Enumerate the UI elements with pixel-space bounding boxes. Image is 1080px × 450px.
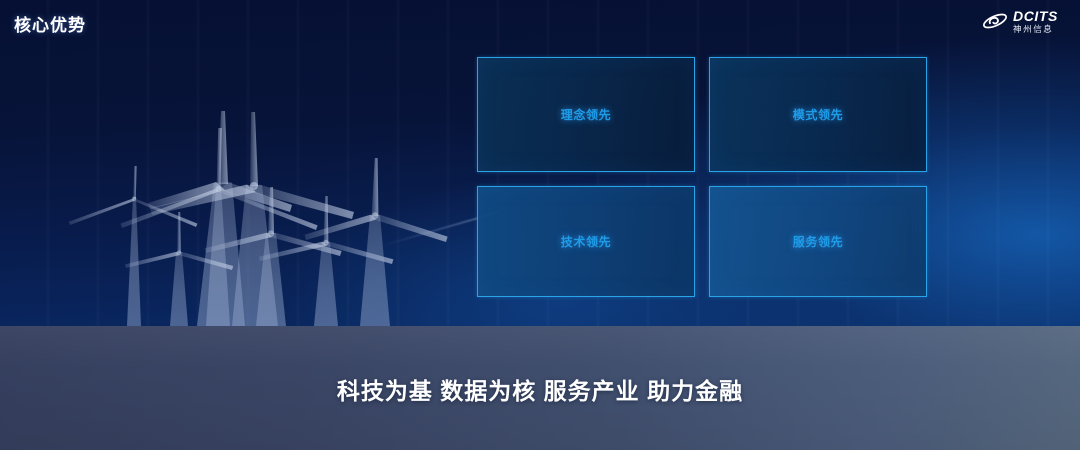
advantage-card-label: 模式领先 <box>793 106 843 123</box>
advantage-card-label: 服务领先 <box>793 233 843 250</box>
page-title: 核心优势 <box>14 11 86 36</box>
advantage-card-label: 理念领先 <box>561 106 611 123</box>
slide-background: 核心优势 DCITS 神州信息 理念领先 模式领先 <box>0 0 1080 326</box>
advantage-card-concept[interactable]: 理念领先 <box>477 57 695 172</box>
brand-logo: DCITS 神州信息 <box>982 9 1058 34</box>
advantage-card-service[interactable]: 服务领先 <box>709 186 927 297</box>
dcits-swirl-icon <box>982 9 1008 33</box>
advantage-card-technology[interactable]: 技术领先 <box>477 186 695 297</box>
footer-tagline: 科技为基 数据为核 服务产业 助力金融 <box>0 372 1080 406</box>
advantage-card-model[interactable]: 模式领先 <box>709 57 927 172</box>
footer-band: 科技为基 数据为核 服务产业 助力金融 <box>0 326 1080 450</box>
logo-chinese-text: 神州信息 <box>1013 25 1058 34</box>
advantage-card-grid: 理念领先 模式领先 技术领先 服务领先 <box>477 57 927 297</box>
slide-canvas: 核心优势 DCITS 神州信息 理念领先 模式领先 <box>0 0 1080 450</box>
advantage-card-label: 技术领先 <box>561 233 611 250</box>
logo-english-text: DCITS <box>1013 9 1058 23</box>
